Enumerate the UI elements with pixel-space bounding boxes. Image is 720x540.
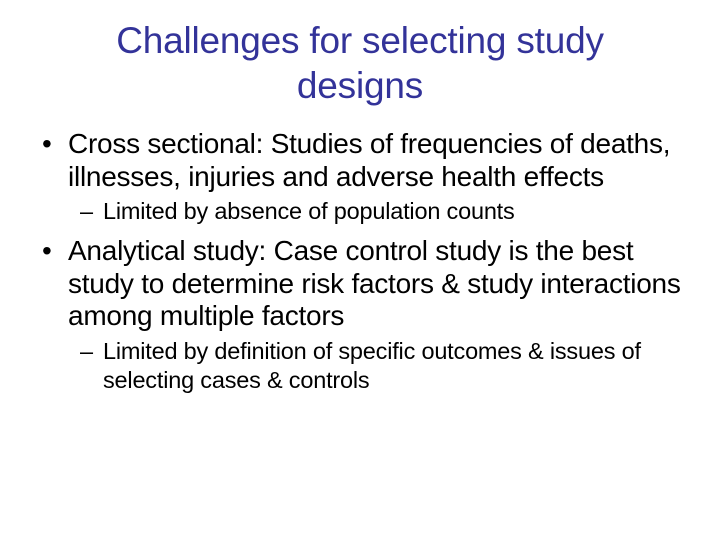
bullet-text: Cross sectional: Studies of frequencies …: [68, 128, 690, 193]
bullet-item-level2: – Limited by absence of population count…: [30, 197, 690, 226]
bullet-text: Limited by absence of population counts: [103, 197, 690, 226]
slide-title-line-2: designs: [40, 63, 680, 108]
bullet-text: Limited by definition of specific outcom…: [103, 337, 690, 395]
bullet-item-level2: – Limited by definition of specific outc…: [30, 337, 690, 395]
slide-title-line-1: Challenges for selecting study: [40, 18, 680, 63]
bullet-dash-icon: –: [80, 197, 93, 226]
bullet-text: Analytical study: Case control study is …: [68, 235, 690, 333]
slide-title: Challenges for selecting study designs: [40, 18, 680, 108]
bullet-item-level1: • Cross sectional: Studies of frequencie…: [30, 128, 690, 193]
slide-canvas: Challenges for selecting study designs •…: [0, 0, 720, 540]
bullet-dash-icon: –: [80, 337, 93, 366]
bullet-item-level1: • Analytical study: Case control study i…: [30, 235, 690, 333]
bullet-dot-icon: •: [42, 235, 52, 268]
bullet-dot-icon: •: [42, 128, 52, 161]
bullet-spacer: [30, 226, 690, 235]
slide-body: • Cross sectional: Studies of frequencie…: [30, 128, 690, 395]
